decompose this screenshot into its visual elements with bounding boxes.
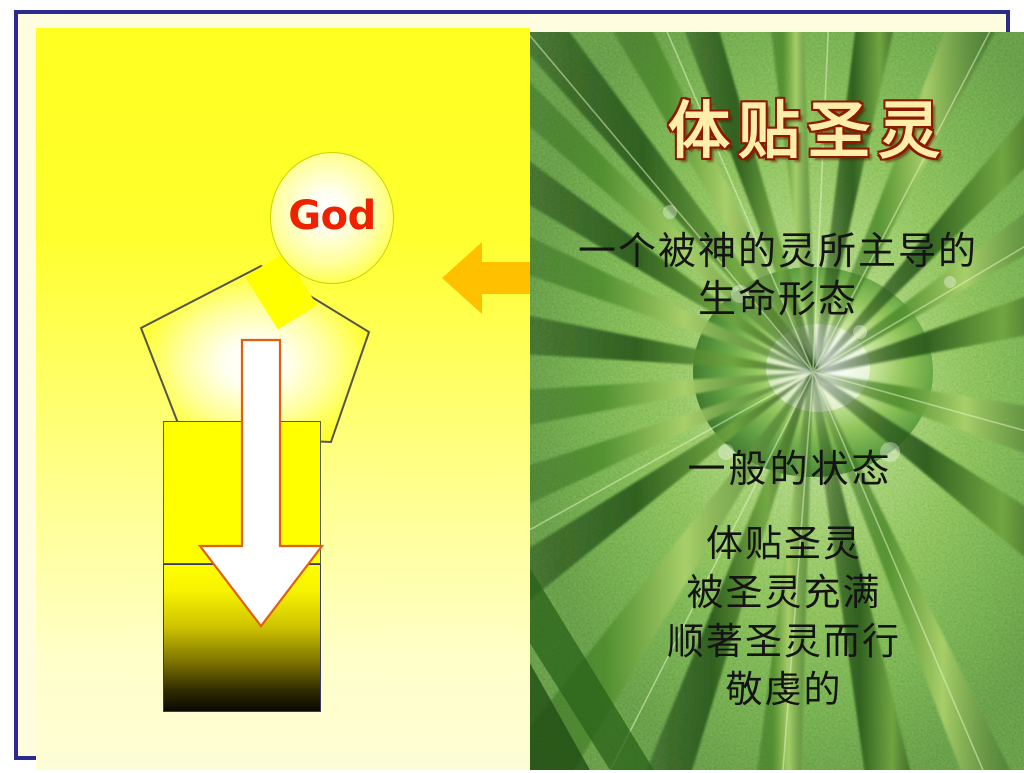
slide-title: 体贴圣灵 [560,80,1024,170]
middle-line: 一般的状态 [542,438,1024,493]
list-item-2: 被圣灵充满 [536,569,1024,618]
list-item-3: 顺著圣灵而行 [536,618,1024,667]
left-pointing-arrow-icon [440,240,530,316]
god-circle: God [270,152,394,284]
god-label: God [288,196,375,236]
slide-border: God [14,10,1010,760]
subtitle-block: 一个被神的灵所主导的 生命形态 [530,228,1024,324]
bullet-list: 体贴圣灵 被圣灵充满 顺著圣灵而行 敬虔的 [536,520,1024,715]
bamboo-photo-panel: 体贴圣灵 一个被神的灵所主导的 生命形态 一般的状态 体贴圣灵 被圣灵充满 顺著… [530,32,1024,770]
diagram-panel: God [36,28,530,770]
list-item-4: 敬虔的 [536,666,1024,715]
down-arrow-icon [196,338,326,628]
subtitle-line-2: 生命形态 [530,276,1024,324]
photo-text-overlay: 体贴圣灵 一个被神的灵所主导的 生命形态 一般的状态 体贴圣灵 被圣灵充满 顺著… [530,32,1024,770]
list-item-1: 体贴圣灵 [536,520,1024,569]
subtitle-line-1: 一个被神的灵所主导的 [530,228,1024,276]
slide: God [0,0,1024,773]
